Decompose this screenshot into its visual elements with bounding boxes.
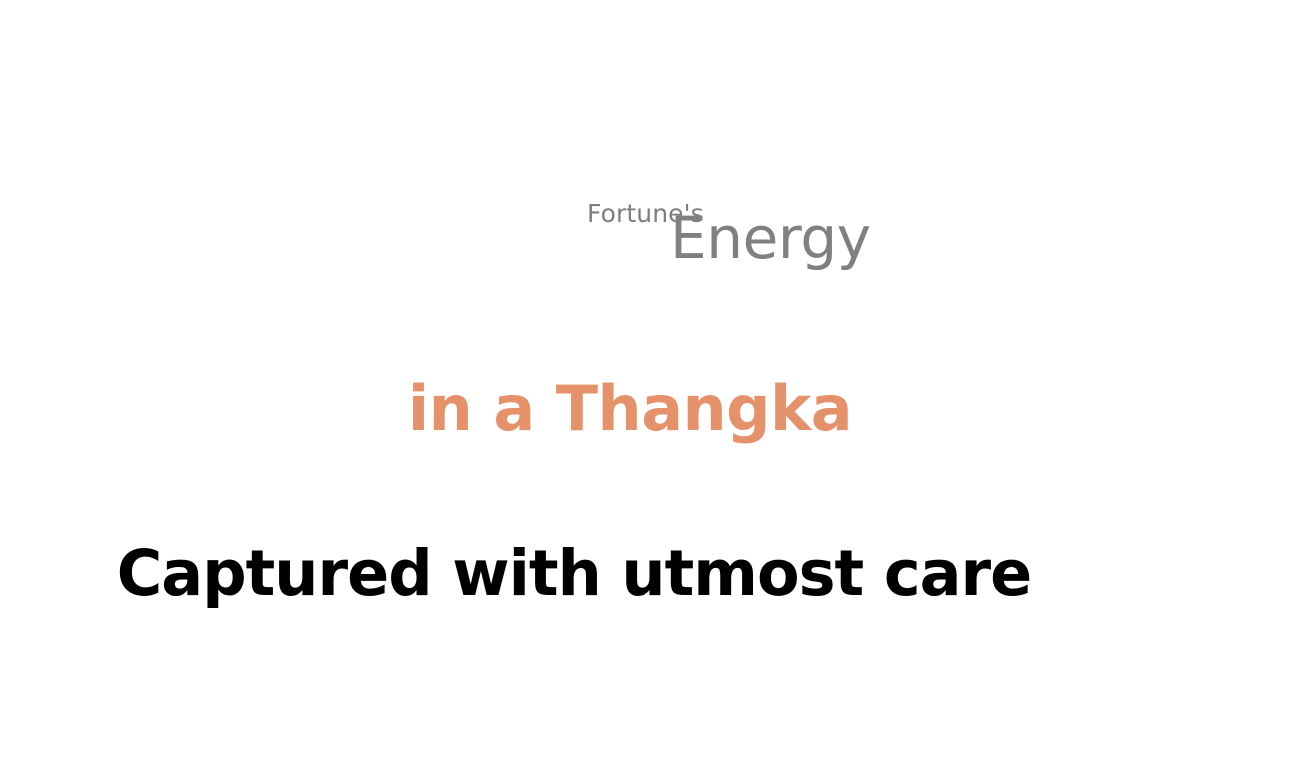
headline-subject: Energy xyxy=(670,209,871,267)
headline-overlap-group: Fortune's Energy xyxy=(0,0,1300,300)
poster-canvas: Fortune's Energy in a Thangka Captured w… xyxy=(0,0,1300,757)
accent-headline: in a Thangka xyxy=(0,378,1280,440)
statement-headline: Captured with utmost care xyxy=(0,542,1214,605)
